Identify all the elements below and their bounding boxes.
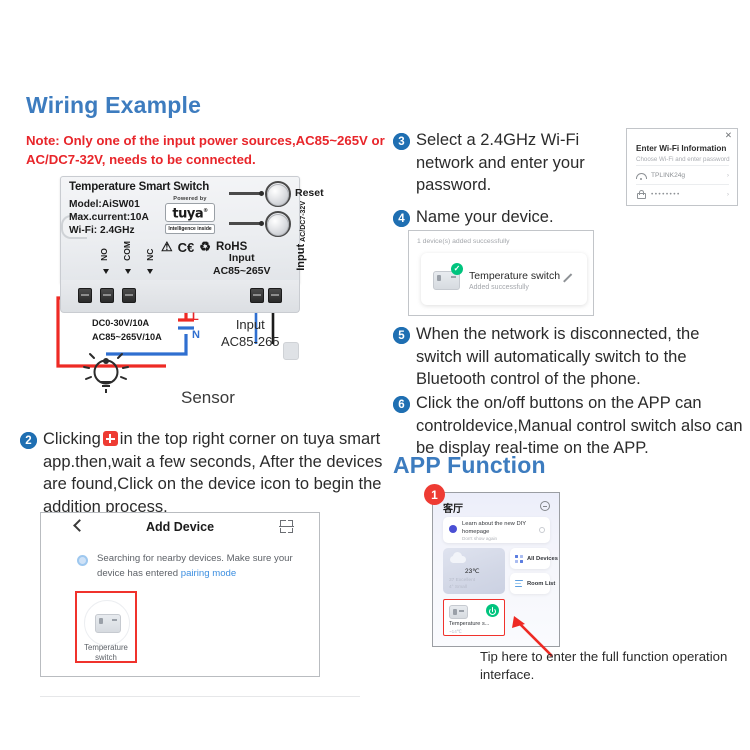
step-4-text: Name your device.: [416, 206, 554, 229]
poster-root: Wiring Example Note: Only one of the inp…: [0, 0, 750, 750]
reset-dot: [259, 191, 264, 196]
right-input-label: Input AC85-265: [221, 316, 280, 350]
app-function-heading: APP Function: [393, 452, 546, 479]
diy-dismiss-label[interactable]: Don't show again: [462, 536, 497, 541]
device-wifi-spec: Wi-Fi: 2.4GHz: [69, 225, 135, 236]
reset-stem: [229, 192, 263, 195]
terminal-arrow-no: [103, 269, 109, 274]
lock-icon: [636, 190, 645, 199]
neutral-label: N: [192, 329, 200, 341]
step-2-text-a: Clicking: [43, 430, 101, 448]
terminal-label-com: COM: [123, 241, 132, 261]
diy-banner[interactable]: Learn about the new DIY homepage Don't s…: [443, 517, 550, 543]
wiring-example-heading: Wiring Example: [26, 92, 201, 119]
weather-temperature: 23℃: [465, 562, 480, 576]
load-rating-line1: DC0-30V/10A: [92, 318, 149, 328]
manual-button-graphic: [229, 211, 291, 237]
found-device-name-line2: switch: [95, 653, 117, 662]
found-device-card[interactable]: Temperature switch: [75, 591, 137, 663]
added-device-card[interactable]: ✓ Temperature switch Added successfully: [421, 253, 587, 305]
powered-by-label: Powered by: [165, 196, 215, 202]
ac-input-line2: AC85~265V: [213, 265, 271, 277]
step-4-number: 4: [393, 210, 410, 227]
manual-dot: [259, 221, 264, 226]
reset-label: Reset: [295, 187, 324, 199]
pairing-mode-link[interactable]: pairing mode: [181, 568, 236, 579]
plus-icon: [103, 431, 118, 446]
grid-icon: [515, 555, 523, 563]
device-max-current: Max.current:10A: [69, 212, 149, 223]
tile-room-list-label: Room List: [527, 581, 555, 587]
right-input-line2: AC85-265: [221, 334, 280, 349]
weather-temp-unit: ℃: [472, 568, 479, 575]
device-card-name: Temperature s...: [449, 621, 489, 627]
weather-sub-line2: 4° Small: [449, 585, 467, 590]
tile-all-devices[interactable]: All Devices: [510, 548, 550, 569]
terminal-label-nc: NC: [146, 241, 155, 261]
add-device-screenshot: Add Device Searching for nearby devices.…: [40, 512, 320, 677]
loading-spinner-icon: [77, 555, 88, 566]
callout-badge-1: 1: [424, 484, 445, 505]
wifi-dialog-screenshot: ✕ Enter Wi-Fi Information Choose Wi-Fi a…: [626, 128, 738, 206]
add-device-header: Add Device: [41, 513, 319, 543]
reset-knob: [267, 184, 289, 206]
weather-sub-line1: 37 Excellent: [449, 578, 475, 583]
step-6-text: Click the on/off buttons on the APP can …: [416, 392, 745, 460]
lightbulb-icon: [449, 525, 457, 533]
scan-qr-icon[interactable]: [280, 520, 293, 533]
list-icon: [515, 580, 523, 588]
diy-banner-text: Learn about the new DIY homepage: [462, 521, 536, 536]
screw-terminal-com: [100, 288, 114, 303]
wifi-ssid-value: TPLINK24g: [651, 172, 685, 179]
wifi-icon: [636, 171, 645, 180]
tile-all-devices-label: All Devices: [527, 556, 558, 562]
right-input-line1: Input: [236, 317, 265, 332]
tuya-brand-logo: tuya®: [165, 203, 215, 222]
step-6-number: 6: [393, 396, 410, 413]
add-device-title: Add Device: [41, 520, 319, 534]
side-input-small: AC/DC7-32V: [300, 201, 307, 242]
load-rating-line2: AC85~265V/10A: [92, 332, 162, 342]
warning-triangle-icon: ⚠: [161, 239, 173, 255]
device-card-temp: ~14℃: [449, 629, 462, 635]
step-3-text: Select a 2.4GHz Wi-Fi network and enter …: [416, 129, 593, 197]
screw-terminal-nc: [122, 288, 136, 303]
manual-stem: [229, 222, 263, 225]
weather-subtext: 37 Excellent 4° Small: [449, 577, 475, 591]
collapse-icon[interactable]: [540, 501, 550, 511]
step-5-text: When the network is disconnected, the sw…: [416, 323, 745, 391]
eye-toggle-icon[interactable]: ›: [727, 191, 729, 198]
success-check-icon: ✓: [451, 263, 463, 275]
weee-bin-icon: ♻: [199, 239, 211, 255]
sensor-label: Sensor: [181, 388, 235, 408]
step-3-number: 3: [393, 133, 410, 150]
wifi-password-row[interactable]: •••••••• ›: [636, 184, 729, 204]
added-device-status: Added successfully: [469, 284, 529, 291]
device-body: Temperature Smart Switch Model:AiSW01 Ma…: [60, 176, 300, 283]
step-2-text: Clickingin the top right corner on tuya …: [43, 428, 395, 518]
intelligence-inside-label: Intelligence inside: [165, 224, 215, 234]
terminal-labels: NO COM NC: [100, 241, 155, 261]
power-toggle-icon[interactable]: [486, 604, 499, 617]
tuya-registered-mark: ®: [203, 208, 208, 214]
divider: [40, 696, 360, 697]
found-device-name: Temperature switch: [77, 643, 135, 663]
screw-terminal-ac-l: [250, 288, 264, 303]
diy-close-icon[interactable]: [539, 527, 545, 533]
device-terminal-strip: Sensor: [60, 280, 300, 313]
room-name-label: 客厅: [443, 500, 463, 515]
live-label: L: [192, 311, 199, 323]
chevron-right-icon: ›: [727, 172, 729, 179]
device-model: Model:AiSW01: [69, 199, 140, 210]
name-device-screenshot: 1 device(s) added successfully ✓ Tempera…: [408, 230, 594, 316]
terminal-label-no: NO: [100, 241, 109, 261]
screw-terminal-ac-n: [268, 288, 282, 303]
device-thumbnail-icon: [449, 605, 468, 619]
wiring-diagram: Temperature Smart Switch Model:AiSW01 Ma…: [40, 176, 308, 426]
added-device-name: Temperature switch: [469, 270, 560, 282]
tip-text: Tip here to enter the full function oper…: [480, 648, 730, 684]
tile-room-list[interactable]: Room List: [510, 573, 550, 594]
tuya-logo-block: Powered by tuya® Intelligence inside: [165, 196, 215, 234]
step-6: 6 Click the on/off buttons on the APP ca…: [393, 392, 745, 460]
added-successfully-header: 1 device(s) added successfully: [417, 238, 510, 245]
ce-mark-icon: C€: [178, 240, 195, 255]
step-5: 5 When the network is disconnected, the …: [393, 323, 745, 391]
ac-input-label: Input AC85~265V: [213, 252, 271, 277]
screw-terminal-no: [78, 288, 92, 303]
step-3: 3 Select a 2.4GHz Wi-Fi network and ente…: [393, 129, 593, 197]
device-card-temperature-switch[interactable]: Temperature s... ~14℃: [443, 599, 505, 636]
found-device-name-line1: Temperature: [84, 643, 128, 652]
terminal-arrow-nc: [147, 269, 153, 274]
wifi-ssid-row[interactable]: TPLINK24g ›: [636, 165, 729, 185]
diy-line2: homepage: [462, 529, 489, 535]
cloud-icon: [450, 556, 466, 563]
step-2-number: 2: [20, 432, 37, 449]
side-input-big: Input: [295, 244, 307, 271]
device-thumbnail-icon: [95, 614, 121, 633]
power-source-note: Note: Only one of the input power source…: [26, 131, 386, 169]
ac-input-line1: Input: [229, 252, 255, 264]
tuya-brand-text: tuya: [172, 206, 203, 221]
device-side-tab: [283, 342, 299, 360]
step-2: 2 Clickingin the top right corner on tuy…: [20, 428, 395, 518]
diy-line1: Learn about the new DIY: [462, 521, 526, 527]
step-4: 4 Name your device.: [393, 206, 643, 229]
wifi-password-value: ••••••••: [651, 191, 681, 198]
reset-button-graphic: Reset: [229, 181, 291, 207]
wifi-dialog-subtitle: Choose Wi-Fi and enter password: [636, 156, 730, 163]
terminal-arrow-com: [125, 269, 131, 274]
manual-knob: [267, 214, 289, 236]
close-icon[interactable]: ✕: [725, 131, 732, 140]
device-title: Temperature Smart Switch: [69, 181, 209, 193]
weather-card[interactable]: 23℃ 37 Excellent 4° Small: [443, 548, 505, 594]
side-input-label: Input AC/DC7-32V: [295, 201, 307, 271]
searching-message: Searching for nearby devices. Make sure …: [97, 551, 297, 581]
step-5-number: 5: [393, 327, 410, 344]
wifi-dialog-title: Enter Wi-Fi Information: [636, 144, 726, 153]
edit-pencil-icon[interactable]: [563, 273, 572, 282]
